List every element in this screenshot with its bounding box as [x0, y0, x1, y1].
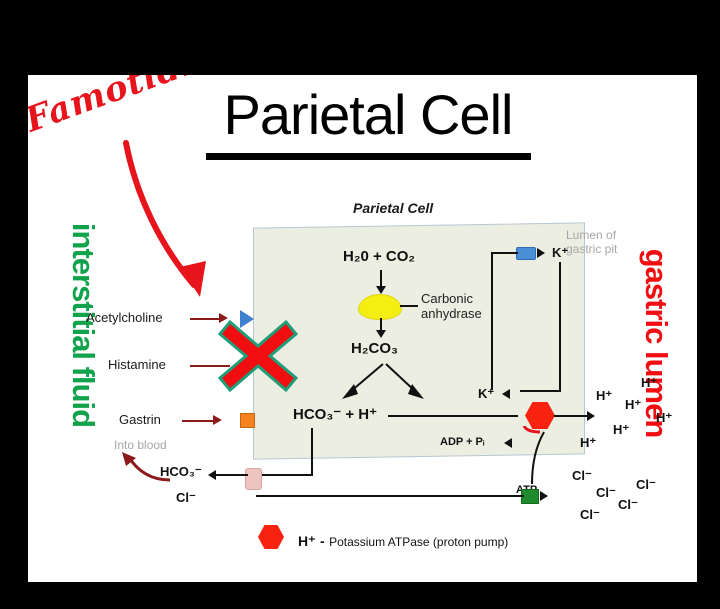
- legend-ion-symbol: H⁺: [298, 533, 316, 549]
- legend-text: H⁺ - Potassium ATPase (proton pump): [298, 533, 508, 551]
- lumen-proton: H⁺: [641, 375, 657, 391]
- proton-out-arrow-icon: [587, 411, 595, 421]
- lumen-of-gastric-pit-note: Lumen of gastric pit: [566, 228, 656, 257]
- potassium-recycle-vline: [559, 262, 561, 392]
- potassium-channel-inflow-line: [492, 252, 518, 254]
- lumen-chloride: Cl⁻: [596, 485, 616, 501]
- dissociation-arrows-icon: [328, 362, 438, 404]
- proton-out-line: [554, 415, 588, 417]
- chloride-out-arrow-icon: [540, 491, 548, 501]
- potassium-channel-icon: [516, 247, 536, 260]
- chloride-transport-line: [256, 495, 524, 497]
- chloride-in-label: Cl⁻: [176, 490, 196, 506]
- legend-description: Potassium ATPase (proton pump): [329, 535, 508, 549]
- lumen-chloride: Cl⁻: [580, 507, 600, 523]
- potassium-channel-vline: [491, 252, 493, 390]
- lumen-proton: H⁺: [596, 388, 612, 404]
- gastrin-connector: [182, 420, 214, 422]
- enzyme-connector: [400, 305, 418, 307]
- bicarbonate-out-arrow-icon: [208, 470, 216, 480]
- acetylcholine-connector: [190, 318, 220, 320]
- proton-to-pump-line: [388, 415, 518, 417]
- potassium-out-arrow-icon: [537, 248, 545, 258]
- lumen-proton: H⁺: [613, 422, 629, 438]
- bicarbonate-left-line: [256, 474, 313, 476]
- lumen-chloride: Cl⁻: [618, 497, 638, 513]
- reaction-substrates: H₂0 + CO₂: [343, 248, 415, 265]
- legend-pump-icon: [258, 525, 284, 549]
- slide-canvas: Parietal Cell Famotidine interstitial fl…: [28, 75, 697, 582]
- enzyme-out-arrow-icon: [376, 330, 386, 338]
- substrate-arrow-icon: [376, 286, 386, 294]
- adp-pi-label: ADP + Pᵢ: [440, 436, 484, 448]
- histamine-label: Histamine: [108, 357, 166, 372]
- lumen-proton: H⁺: [625, 397, 641, 413]
- cell-caption: Parietal Cell: [353, 200, 433, 216]
- lumen-chloride: Cl⁻: [636, 477, 656, 493]
- lumen-chloride: Cl⁻: [572, 468, 592, 484]
- lumen-proton: H⁺: [656, 410, 672, 426]
- gastrin-receptor-icon: [240, 413, 255, 428]
- potassium-recycle-hline: [520, 390, 561, 392]
- gastrin-arrow-icon: [213, 415, 222, 425]
- reaction-products: HCO₃⁻ + H⁺: [293, 405, 377, 423]
- parietal-cell-diagram: Parietal Cell Lumen of gastric pit Acety…: [88, 200, 688, 560]
- atp-curve-icon: [506, 426, 566, 492]
- potassium-out-label: K⁺: [552, 245, 568, 261]
- gastrin-label: Gastrin: [119, 412, 161, 427]
- lumen-proton: H⁺: [580, 435, 596, 451]
- potassium-in-arrow-icon: [502, 389, 510, 399]
- carbonic-anhydrase-icon: [358, 294, 402, 320]
- into-blood-arrow-icon: [118, 452, 178, 486]
- bicarbonate-out-line: [216, 474, 248, 476]
- legend-dash: -: [320, 533, 325, 549]
- blocked-receptor-x-icon: [218, 320, 298, 392]
- into-blood-note: Into blood: [114, 438, 167, 452]
- acetylcholine-label: Acetylcholine: [86, 310, 163, 325]
- bicarbonate-chloride-exchanger-icon: [245, 468, 262, 490]
- carbonic-anhydrase-label: Carbonic anhydrase: [421, 292, 482, 322]
- bicarbonate-down-line: [311, 428, 313, 476]
- reaction-intermediate: H₂CO₃: [351, 340, 398, 357]
